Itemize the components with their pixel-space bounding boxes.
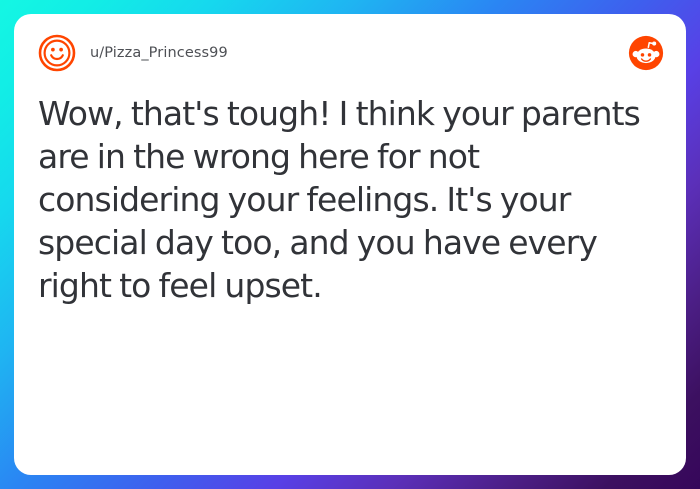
- username-label[interactable]: u/Pizza_Princess99: [90, 45, 228, 61]
- post-body: Wow, that's tough! I think your parents …: [14, 92, 686, 307]
- smiley-face-icon: [37, 33, 77, 73]
- post-text: Wow, that's tough! I think your parents …: [38, 92, 648, 307]
- reddit-snoo-icon: [628, 35, 664, 71]
- reddit-logo[interactable]: [628, 35, 664, 71]
- gradient-background: u/Pizza_Princess99: [0, 0, 700, 489]
- post-header: u/Pizza_Princess99: [14, 14, 686, 92]
- reddit-post-card: u/Pizza_Princess99: [14, 14, 686, 475]
- avatar[interactable]: [37, 33, 77, 73]
